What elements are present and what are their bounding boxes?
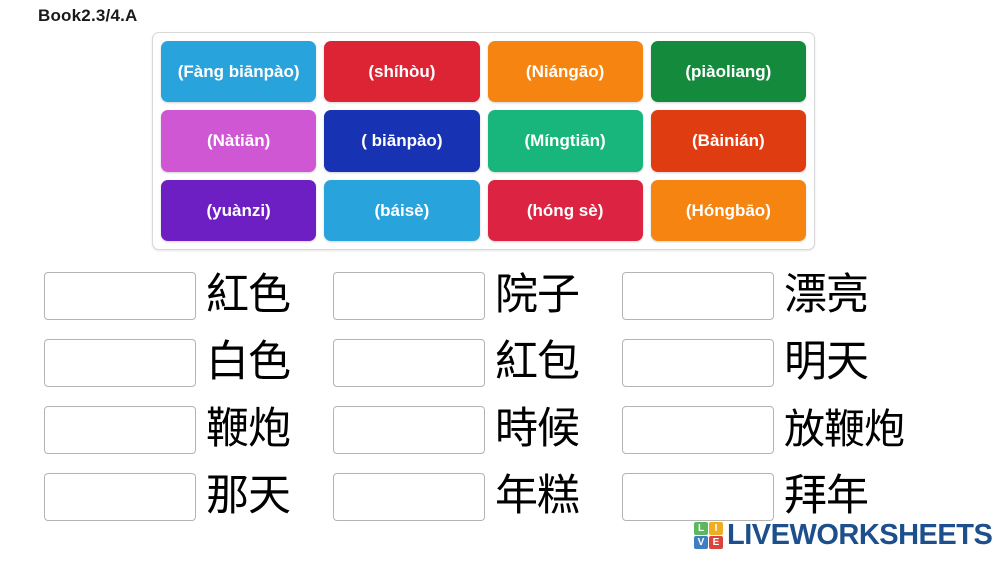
answer-word: 紅色	[206, 274, 290, 317]
word-tile[interactable]: (Nàtiān)	[161, 110, 316, 171]
answer-area: 紅色 白色 鞭炮 那天 院子 紅包 時候 年糕	[0, 262, 1000, 552]
word-tile[interactable]: (Hóngbāo)	[651, 180, 806, 241]
answer-drop-box[interactable]	[622, 272, 774, 320]
answer-row: 那天	[44, 463, 344, 530]
answer-word: 時候	[495, 408, 579, 451]
word-tile[interactable]: (báisè)	[324, 180, 479, 241]
answer-drop-box[interactable]	[622, 473, 774, 521]
word-tile[interactable]: ( biānpào)	[324, 110, 479, 171]
answer-row: 鞭炮	[44, 396, 344, 463]
answer-row: 漂亮	[622, 262, 922, 329]
answer-drop-box[interactable]	[333, 272, 485, 320]
logo-cell-i: I	[709, 522, 723, 535]
answer-drop-box[interactable]	[44, 339, 196, 387]
answer-word: 院子	[495, 274, 579, 317]
answer-row: 年糕	[333, 463, 633, 530]
answer-word: 那天	[206, 475, 290, 518]
word-tile[interactable]: (piàoliang)	[651, 41, 806, 102]
answer-word: 年糕	[495, 475, 579, 518]
page-title: Book2.3/4.A	[38, 6, 138, 26]
answer-word: 白色	[206, 341, 290, 384]
logo-cell-l: L	[694, 522, 708, 535]
logo-cell-v: V	[694, 536, 708, 549]
answer-row: 白色	[44, 329, 344, 396]
answer-row: 明天	[622, 329, 922, 396]
answer-drop-box[interactable]	[622, 339, 774, 387]
answer-drop-box[interactable]	[622, 406, 774, 454]
liveworksheets-logo: L I V E LIVEWORKSHEETS	[694, 521, 992, 550]
liveworksheets-wordmark: LIVEWORKSHEETS	[727, 521, 992, 550]
answer-row: 紅色	[44, 262, 344, 329]
answer-row: 紅包	[333, 329, 633, 396]
word-tile[interactable]: (yuànzi)	[161, 180, 316, 241]
answer-row: 院子	[333, 262, 633, 329]
answer-drop-box[interactable]	[333, 406, 485, 454]
answer-word: 拜年	[784, 475, 868, 518]
word-tile[interactable]: (hóng sè)	[488, 180, 643, 241]
answer-drop-box[interactable]	[333, 473, 485, 521]
answer-drop-box[interactable]	[44, 473, 196, 521]
answer-word: 漂亮	[784, 274, 868, 317]
word-tile[interactable]: (shíhòu)	[324, 41, 479, 102]
answer-column-3: 漂亮 明天 放鞭炮 拜年	[622, 262, 922, 530]
answer-row: 放鞭炮	[622, 396, 922, 463]
answer-row: 時候	[333, 396, 633, 463]
word-tile[interactable]: (Niángāo)	[488, 41, 643, 102]
answer-column-1: 紅色 白色 鞭炮 那天	[44, 262, 344, 530]
answer-column-2: 院子 紅包 時候 年糕	[333, 262, 633, 530]
answer-word: 放鞭炮	[784, 409, 904, 450]
word-bank-panel: (Fàng biānpào) (shíhòu) (Niángāo) (piàol…	[152, 32, 815, 250]
answer-drop-box[interactable]	[333, 339, 485, 387]
logo-cell-e: E	[709, 536, 723, 549]
answer-word: 紅包	[495, 341, 579, 384]
answer-word: 明天	[784, 341, 868, 384]
word-tile[interactable]: (Míngtiān)	[488, 110, 643, 171]
word-tile[interactable]: (Bàinián)	[651, 110, 806, 171]
answer-drop-box[interactable]	[44, 406, 196, 454]
word-bank-grid: (Fàng biānpào) (shíhòu) (Niángāo) (piàol…	[161, 41, 806, 241]
word-tile[interactable]: (Fàng biānpào)	[161, 41, 316, 102]
answer-word: 鞭炮	[206, 408, 290, 451]
liveworksheets-mark-icon: L I V E	[694, 522, 723, 549]
answer-drop-box[interactable]	[44, 272, 196, 320]
